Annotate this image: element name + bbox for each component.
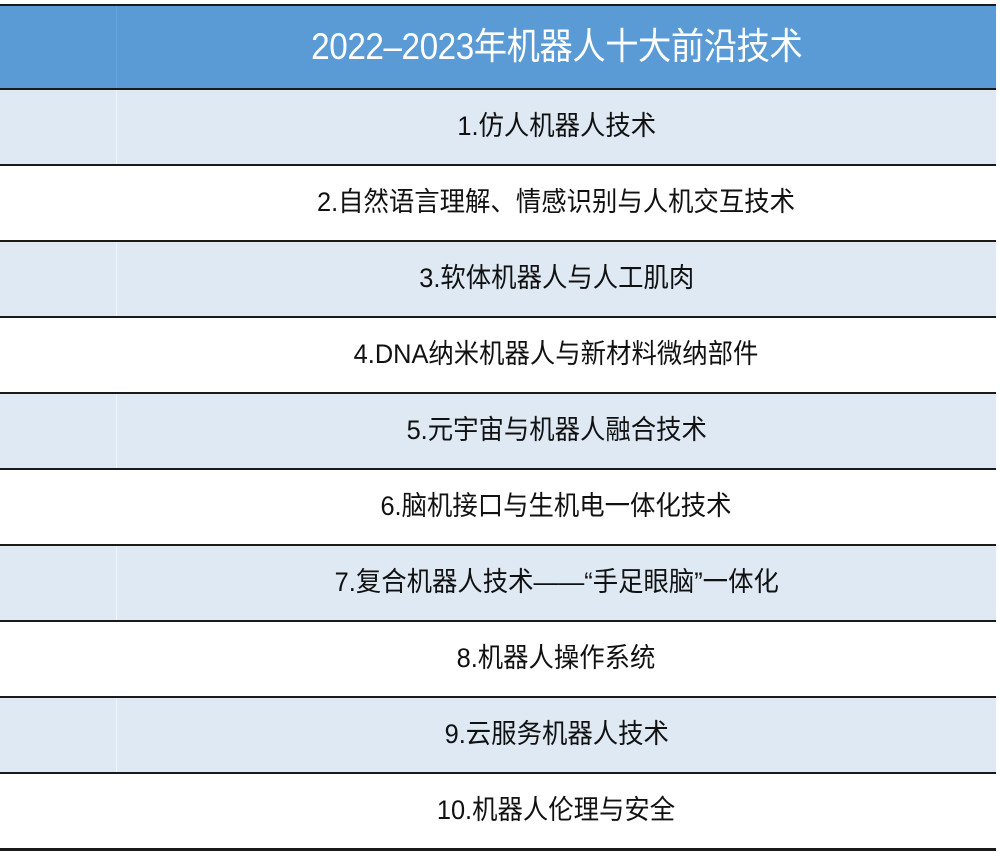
row-cell-text: 6.脑机接口与生机电一体化技术 [116, 469, 996, 545]
row-cell-left-spacer [0, 89, 116, 165]
row-cell-text: 8.机器人操作系统 [116, 621, 996, 697]
row-cell-left-spacer [0, 393, 116, 469]
table-row: 6.脑机接口与生机电一体化技术 [0, 469, 996, 545]
table-header-row: 2022–2023年机器人十大前沿技术 [0, 5, 996, 89]
table-row: 3.软体机器人与人工肌肉 [0, 241, 996, 317]
row-cell-text: 7.复合机器人技术——“手足眼脑”一体化 [116, 545, 996, 621]
row-cell-left-spacer [0, 241, 116, 317]
table-row: 8.机器人操作系统 [0, 621, 996, 697]
table-row: 7.复合机器人技术——“手足眼脑”一体化 [0, 545, 996, 621]
list-item-label: 5.元宇宙与机器人融合技术 [143, 415, 970, 446]
list-item-label: 2.自然语言理解、情感识别与人机交互技术 [142, 187, 969, 218]
table-row: 1.仿人机器人技术 [0, 89, 996, 165]
row-cell-text: 3.软体机器人与人工肌肉 [116, 241, 996, 317]
row-cell-text: 4.DNA纳米机器人与新材料微纳部件 [116, 317, 996, 393]
row-cell-left-spacer [0, 621, 116, 697]
list-item-label: 8.机器人操作系统 [142, 643, 969, 674]
header-cell-left-spacer [0, 5, 116, 89]
row-cell-text: 5.元宇宙与机器人融合技术 [116, 393, 996, 469]
row-cell-left-spacer [0, 317, 116, 393]
row-cell-left-spacer [0, 469, 116, 545]
robotics-frontier-technologies-table: 2022–2023年机器人十大前沿技术 1.仿人机器人技术 2.自然语言理解、情… [0, 4, 996, 851]
table-row: 9.云服务机器人技术 [0, 697, 996, 773]
list-item-label: 4.DNA纳米机器人与新材料微纳部件 [142, 339, 969, 370]
list-item-label: 1.仿人机器人技术 [143, 111, 970, 142]
list-item-label: 10.机器人伦理与安全 [142, 795, 969, 826]
table-row: 4.DNA纳米机器人与新材料微纳部件 [0, 317, 996, 393]
row-cell-left-spacer [0, 773, 116, 850]
list-item-label: 6.脑机接口与生机电一体化技术 [142, 491, 969, 522]
table-row: 5.元宇宙与机器人融合技术 [0, 393, 996, 469]
list-item-label: 7.复合机器人技术——“手足眼脑”一体化 [143, 567, 970, 598]
row-cell-text: 10.机器人伦理与安全 [116, 773, 996, 850]
row-cell-text: 1.仿人机器人技术 [116, 89, 996, 165]
page-title: 2022–2023年机器人十大前沿技术 [160, 27, 952, 68]
row-cell-left-spacer [0, 545, 116, 621]
row-cell-left-spacer [0, 165, 116, 241]
header-cell-title: 2022–2023年机器人十大前沿技术 [116, 5, 996, 89]
list-item-label: 3.软体机器人与人工肌肉 [143, 263, 970, 294]
table-row: 2.自然语言理解、情感识别与人机交互技术 [0, 165, 996, 241]
row-cell-text: 9.云服务机器人技术 [116, 697, 996, 773]
tech-table-container: 2022–2023年机器人十大前沿技术 1.仿人机器人技术 2.自然语言理解、情… [0, 4, 996, 851]
row-cell-text: 2.自然语言理解、情感识别与人机交互技术 [116, 165, 996, 241]
list-item-label: 9.云服务机器人技术 [143, 719, 970, 750]
table-row: 10.机器人伦理与安全 [0, 773, 996, 850]
row-cell-left-spacer [0, 697, 116, 773]
